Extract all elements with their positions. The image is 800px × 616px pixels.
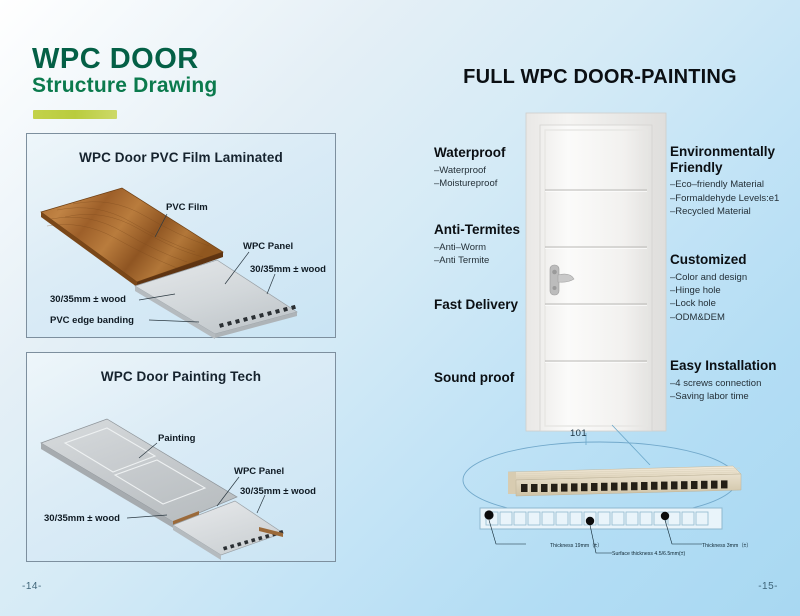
diagram-painting-tech: WPC Door Painting Tech <box>26 352 336 562</box>
callout-wood-thickness-right: 30/35mm ± wood <box>250 264 326 275</box>
feature-item: –Eco–friendly Material <box>670 178 779 191</box>
feature-customized: Customized –Color and design –Hinge hole… <box>670 252 747 324</box>
panel-detail-illustration <box>400 440 800 570</box>
feature-item: –Formaldehyde Levels:e1 <box>670 192 779 205</box>
feature-title: Anti-Termites <box>434 222 520 238</box>
right-page: FULL WPC DOOR-PAINTING <box>400 0 800 616</box>
page-number-left: -14- <box>22 581 42 592</box>
feature-easy-installation: Easy Installation –4 screws connection –… <box>670 358 777 403</box>
feature-anti-termites: Anti-Termites –Anti–Worm –Anti Termite <box>434 222 520 267</box>
page-title-right: FULL WPC DOOR-PAINTING <box>400 66 800 89</box>
callout-wpc-panel: WPC Panel <box>234 466 284 477</box>
callout-pvc-edge-banding: PVC edge banding <box>50 315 134 326</box>
feature-item: –Lock hole <box>670 297 747 310</box>
left-page: WPC DOOR Structure Drawing WPC Door PVC … <box>0 0 400 616</box>
feature-fast-delivery: Fast Delivery <box>434 297 518 313</box>
feature-title: Customized <box>670 252 747 268</box>
pvc-laminated-illustration <box>27 134 337 339</box>
feature-waterproof: Waterproof –Waterproof –Moistureproof <box>434 145 506 190</box>
label-thickness-3mm: Thickness 3mm（±） <box>702 542 752 549</box>
feature-item: –Moistureproof <box>434 177 506 190</box>
callout-painting: Painting <box>158 433 195 444</box>
feature-list: –4 screws connection –Saving labor time <box>670 377 777 404</box>
feature-environmentally-friendly: Environmentally Friendly –Eco–friendly M… <box>670 144 779 218</box>
diagram-pvc-film-laminated: WPC Door PVC Film Laminated <box>26 133 336 338</box>
feature-item: –Anti–Worm <box>434 241 520 254</box>
feature-item: –Recycled Material <box>670 205 779 218</box>
feature-list: –Waterproof –Moistureproof <box>434 164 506 191</box>
feature-title: Environmentally Friendly <box>670 144 779 175</box>
feature-item: –Saving labor time <box>670 390 777 403</box>
feature-sound-proof: Sound proof <box>434 370 514 386</box>
page-number-right: -15- <box>758 581 778 592</box>
feature-title: Sound proof <box>434 370 514 386</box>
feature-title: Fast Delivery <box>434 297 518 313</box>
feature-item: –4 screws connection <box>670 377 777 390</box>
door-model-label: 101 <box>570 428 587 439</box>
feature-list: –Anti–Worm –Anti Termite <box>434 241 520 268</box>
feature-item: –Waterproof <box>434 164 506 177</box>
callout-wood-thickness-right: 30/35mm ± wood <box>240 486 316 497</box>
feature-item: –Hinge hole <box>670 284 747 297</box>
feature-item: –Color and design <box>670 271 747 284</box>
painting-tech-illustration <box>27 353 337 563</box>
callout-wpc-panel: WPC Panel <box>243 241 293 252</box>
feature-list: –Color and design –Hinge hole –Lock hole… <box>670 271 747 325</box>
page-title-main: WPC DOOR <box>32 44 199 74</box>
feature-item: –Anti Termite <box>434 254 520 267</box>
feature-item: –ODM&DEM <box>670 311 747 324</box>
label-surface-thickness: Surface thickness 4.5/6.5mm(±) <box>612 551 685 557</box>
page-title-sub: Structure Drawing <box>32 74 217 97</box>
feature-title: Waterproof <box>434 145 506 161</box>
callout-wood-thickness-left: 30/35mm ± wood <box>44 513 120 524</box>
label-thickness-19mm: Thickness 19mm（±） <box>550 542 602 549</box>
callout-pvc-film: PVC Film <box>166 202 208 213</box>
callout-wood-thickness-left: 30/35mm ± wood <box>50 294 126 305</box>
feature-list: –Eco–friendly Material –Formaldehyde Lev… <box>670 178 779 218</box>
title-accent-bar <box>33 110 117 119</box>
feature-title: Easy Installation <box>670 358 777 374</box>
